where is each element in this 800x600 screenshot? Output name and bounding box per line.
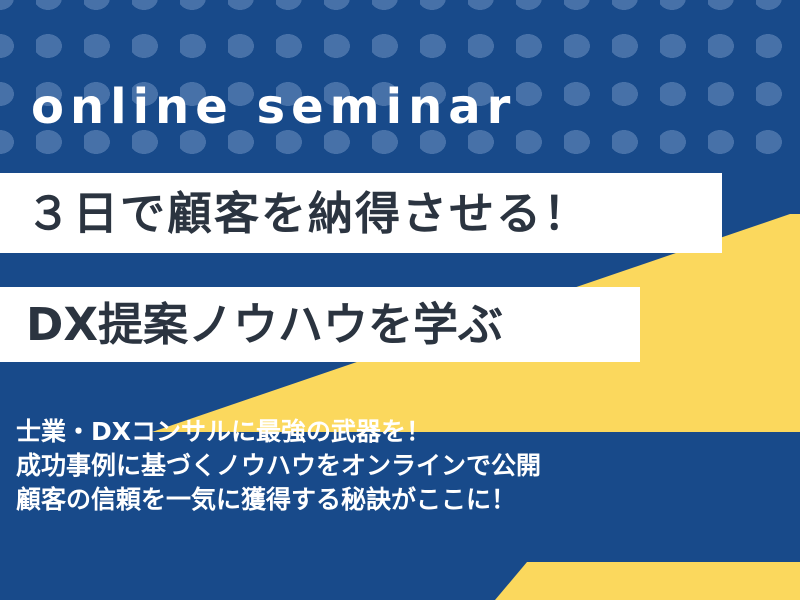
headline-banner-secondary-text: DX提案ノウハウを学ぶ [26, 302, 503, 347]
poster-kicker: online seminar [31, 83, 516, 131]
headline-banner-secondary: DX提案ノウハウを学ぶ [0, 287, 640, 362]
body-copy-line: 成功事例に基づくノウハウをオンラインで公開 [16, 449, 716, 483]
body-copy-line: 顧客の信頼を一気に獲得する秘訣がここに！ [16, 483, 716, 517]
seminar-poster: online seminar ３日で顧客を納得させる！ DX提案ノウハウを学ぶ … [0, 0, 800, 600]
yellow-bottom-bar-shape [495, 562, 800, 600]
body-copy-line: 士業・DXコンサルに最強の武器を！ [16, 415, 716, 449]
body-copy-block: 士業・DXコンサルに最強の武器を！ 成功事例に基づくノウハウをオンラインで公開 … [16, 415, 716, 517]
headline-banner-primary-text: ３日で顧客を納得させる！ [26, 191, 590, 236]
headline-banner-primary: ３日で顧客を納得させる！ [0, 173, 722, 253]
